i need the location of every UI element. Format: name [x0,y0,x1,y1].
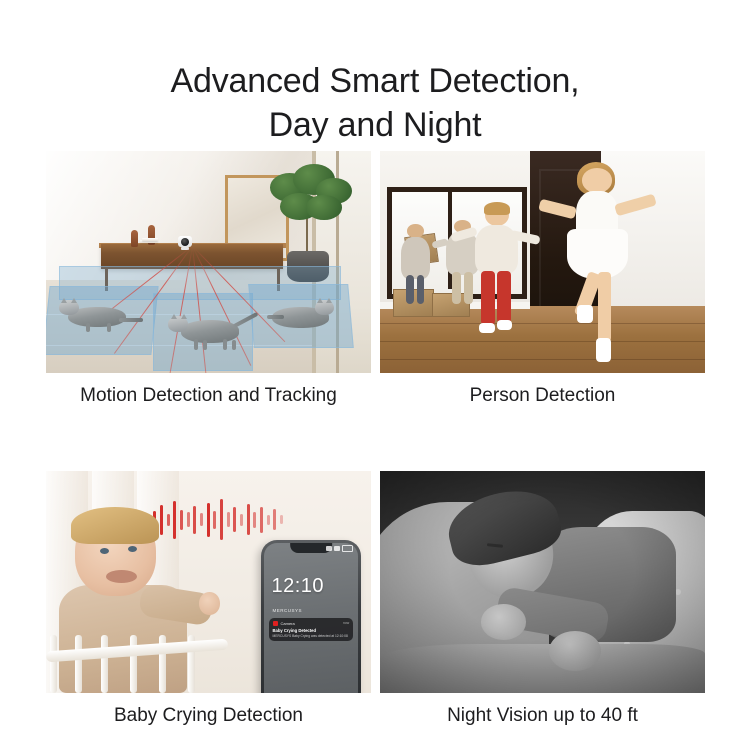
notification-title: Baby Crying Detected [273,628,350,633]
baby-hair [71,507,158,544]
person-torso [401,237,430,279]
page-title-line-1: Advanced Smart Detection, [0,59,750,103]
cat-left [56,298,144,334]
image-vignette [380,471,705,693]
battery-icon [342,545,353,552]
nursery-scene: 12:10 MERCUSYS Camera now Baby Crying De… [46,471,371,693]
person-leg [497,271,511,323]
crib-bar [75,635,82,693]
notification-source: Camera [281,621,341,626]
cat-ear [181,314,187,319]
plant-foliage [306,195,342,219]
cat-ear [326,298,332,303]
notification-header: Camera now [273,621,350,626]
person-leg [406,275,414,304]
cat-ear [317,298,323,303]
baby-crying-detection-image: 12:10 MERCUSYS Camera now Baby Crying De… [46,471,371,693]
baby-eye [128,546,137,552]
person-leg [452,272,461,304]
person-leg [417,275,425,304]
crib-rail [46,635,228,693]
cat-leg [194,339,198,350]
floor-plank-line [380,359,705,360]
feature-card-motion-detection: Motion Detection and Tracking [46,151,371,408]
feature-caption-person-detection: Person Detection [380,384,705,408]
living-room-scene [46,151,371,373]
baby-hand [199,592,219,614]
page-title: Advanced Smart Detection, Day and Night [0,59,750,147]
cat-center [166,311,257,351]
notification-body: MERCUSYS Baby Crying was detected at 12:… [273,634,350,638]
cat-leg [107,323,111,332]
cat-body [181,320,239,342]
person-shoe [497,320,512,330]
person-sock [577,305,592,323]
cat-ear [71,298,77,303]
cat-tail [267,315,284,319]
feature-card-night-vision: Night Vision up to 40 ft [380,471,705,728]
person-hair [484,202,510,215]
cat-leg [232,340,236,350]
feature-caption-motion-detection: Motion Detection and Tracking [46,384,371,408]
cat-tail [232,312,258,328]
baby-mouth [106,570,137,583]
person-leg [481,271,495,325]
phone-status-bar [326,545,353,552]
cat-ear [171,314,177,319]
feature-card-person-detection: Person Detection [380,151,705,408]
person-head [407,224,423,238]
person-boy [468,204,527,333]
crib-bar [101,635,108,693]
crib-bar [130,635,137,693]
notification-card[interactable]: Camera now Baby Crying Detected MERCUSYS… [269,618,354,642]
cat-tail [119,318,144,322]
person-mother [396,224,435,304]
cat-ear [61,298,67,303]
person-leg [598,272,612,341]
feature-card-baby-crying-detection: 12:10 MERCUSYS Camera now Baby Crying De… [46,471,371,728]
smartphone[interactable]: 12:10 MERCUSYS Camera now Baby Crying De… [261,540,362,693]
cat-leg [86,323,90,332]
cat-right [267,298,345,334]
night-vision-image [380,471,705,693]
camera-app-icon [273,621,278,626]
floor-plank-line [380,323,705,324]
page-title-line-2: Day and Night [0,103,750,147]
crib-bar [50,635,57,693]
signal-icon [326,546,332,551]
cat-leg [223,339,227,350]
notification-timestamp: now [343,621,349,625]
person-head [582,168,612,193]
wifi-icon [334,546,340,551]
promo-page: Advanced Smart Detection, Day and Night [0,0,750,750]
baby-eye [100,548,109,554]
feature-caption-baby-crying-detection: Baby Crying Detection [46,704,371,728]
person-sock [596,338,611,363]
hallway-scene [380,151,705,373]
decor-books [142,238,158,241]
decor-vase [131,230,138,247]
person-dress [567,229,628,278]
feature-caption-night-vision: Night Vision up to 40 ft [380,704,705,728]
motion-detection-image [46,151,371,373]
person-girl [556,162,641,366]
lockscreen-clock: 12:10 [272,575,325,598]
crib-top-rail [46,638,228,662]
night-vision-scene [380,471,705,693]
cat-leg [203,340,207,350]
person-detection-image [380,151,705,373]
notification-app-group-label: MERCUSYS [273,608,303,613]
feature-grid: Motion Detection and Tracking [46,151,705,728]
phone-screen[interactable]: 12:10 MERCUSYS Camera now Baby Crying De… [264,543,359,693]
person-shoe [479,323,494,333]
floor-plank-line [380,341,705,342]
